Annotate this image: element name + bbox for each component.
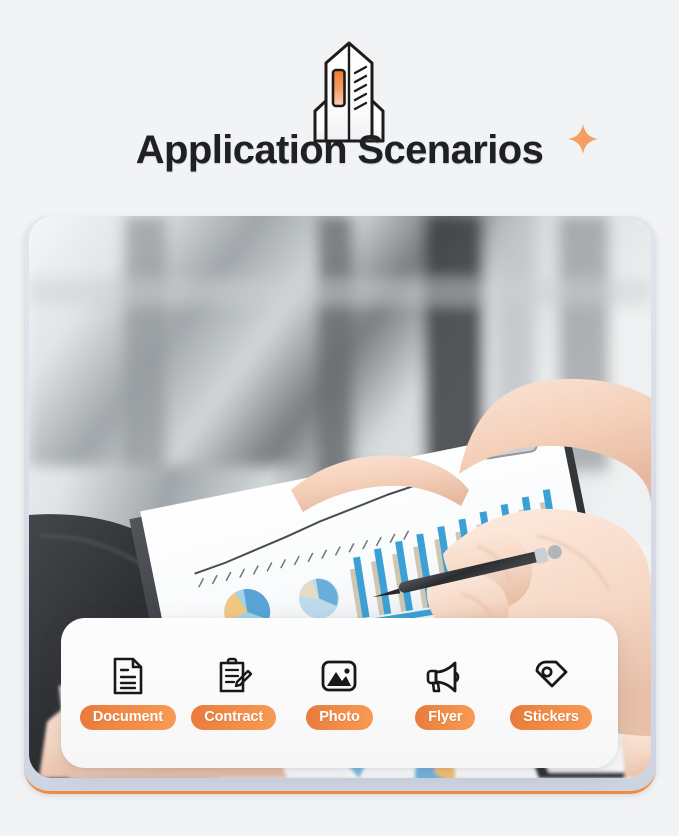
sparkle-icon <box>566 122 600 156</box>
category-item-photo[interactable]: Photo <box>287 656 393 731</box>
photo-panel: Document Contract <box>24 216 656 794</box>
page-header: Application Scenarios <box>0 0 679 208</box>
category-card: Document Contract <box>61 618 618 768</box>
category-badge-photo[interactable]: Photo <box>306 705 373 731</box>
category-item-stickers[interactable]: Stickers <box>498 656 604 731</box>
category-badge-contract[interactable]: Contract <box>191 705 276 731</box>
clipboard-pencil-icon <box>214 656 254 696</box>
category-item-document[interactable]: Document <box>75 656 181 731</box>
category-item-contract[interactable]: Contract <box>181 656 287 731</box>
document-icon <box>108 656 148 696</box>
category-badge-document[interactable]: Document <box>80 705 176 731</box>
image-icon <box>319 656 359 696</box>
tag-icon <box>531 656 571 696</box>
category-badge-stickers[interactable]: Stickers <box>510 705 592 731</box>
category-badge-flyer[interactable]: Flyer <box>415 705 475 731</box>
megaphone-icon <box>425 656 465 696</box>
category-item-flyer[interactable]: Flyer <box>392 656 498 731</box>
